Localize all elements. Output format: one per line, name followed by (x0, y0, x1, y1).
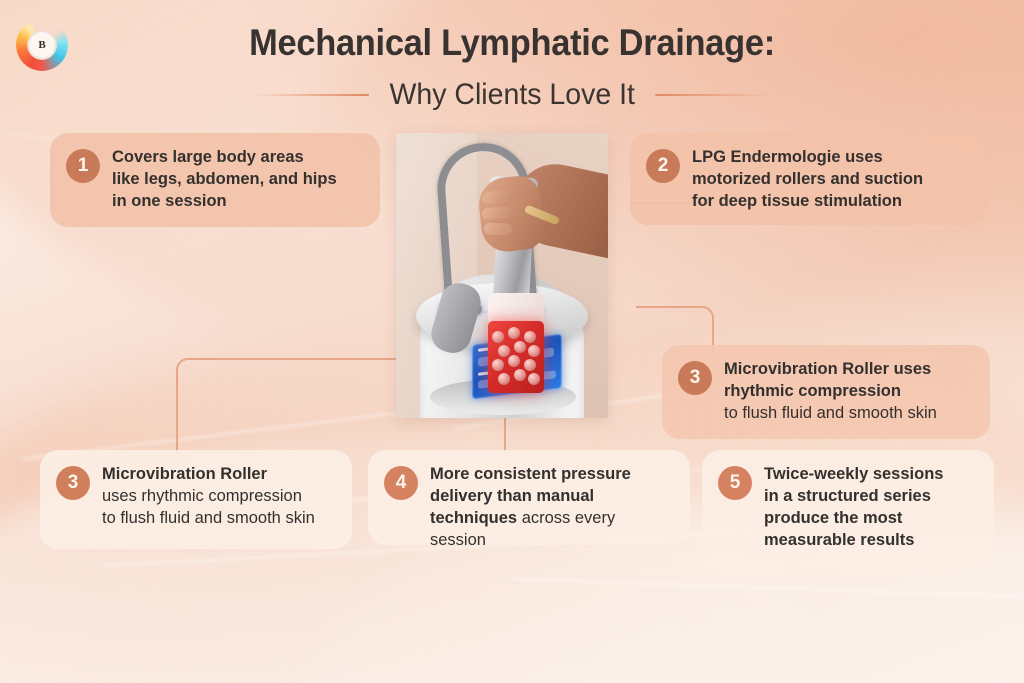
subtitle-rule-left (253, 94, 369, 96)
card-text: Microvibration Roller uses rhythmic comp… (724, 359, 937, 425)
fact-card-2[interactable]: 2 LPG Endermologie uses motorized roller… (630, 133, 987, 225)
card-text: LPG Endermologie uses motorized rollers … (692, 147, 923, 213)
card-line: More consistent pressure (430, 464, 672, 486)
device-photo (396, 133, 608, 418)
card-line: Covers large body areas (112, 147, 337, 169)
card-line: in one session (112, 191, 337, 213)
card-number-badge: 1 (66, 149, 100, 183)
fact-card-5[interactable]: 5 Twice-weekly sessions in a structured … (702, 450, 994, 575)
card-text: More consistent pressure delivery than m… (430, 464, 672, 552)
card-line: like legs, abdomen, and hips (112, 169, 337, 191)
card-text: Twice-weekly sessions in a structured se… (764, 464, 943, 552)
card-line: Microvibration Roller (102, 464, 315, 486)
card-line: Microvibration Roller uses (724, 359, 937, 381)
card-number-badge: 3 (678, 361, 712, 395)
card-line: to flush fluid and smooth skin (102, 508, 315, 530)
subtitle-rule-right (655, 94, 771, 96)
subtitle-row: Why Clients Love It (0, 78, 1024, 112)
card-line: techniques across every session (430, 508, 672, 552)
card-line: Twice-weekly sessions (764, 464, 943, 486)
card-line: uses rhythmic compression (102, 486, 315, 508)
card-line: motorized rollers and suction (692, 169, 923, 191)
page-title: Mechanical Lymphatic Drainage: (36, 22, 988, 64)
connector-line-center (504, 416, 506, 452)
card-number-badge: 2 (646, 149, 680, 183)
card-text: Microvibration Roller uses rhythmic comp… (102, 464, 315, 530)
fact-card-1[interactable]: 1 Covers large body areas like legs, abd… (50, 133, 380, 227)
card-line: LPG Endermologie uses (692, 147, 923, 169)
fact-card-3-bottom[interactable]: 3 Microvibration Roller uses rhythmic co… (40, 450, 352, 549)
card-line-bold-part: techniques (430, 509, 517, 527)
card-number-badge: 5 (718, 466, 752, 500)
connector-line-left (176, 358, 408, 454)
infographic-canvas: B Mechanical Lymphatic Drainage: Why Cli… (0, 0, 1024, 683)
page-subtitle: Why Clients Love It (389, 78, 635, 112)
fact-card-3-right[interactable]: 3 Microvibration Roller uses rhythmic co… (662, 345, 990, 439)
finger-2 (482, 206, 513, 220)
card-number-badge: 3 (56, 466, 90, 500)
card-line: rhythmic compression (724, 381, 937, 403)
card-line: in a structured series (764, 486, 943, 508)
fact-card-4[interactable]: 4 More consistent pressure delivery than… (368, 450, 690, 545)
card-line: produce the most (764, 508, 943, 530)
card-line: to flush fluid and smooth skin (724, 403, 937, 425)
card-text: Covers large body areas like legs, abdom… (112, 147, 337, 213)
card-line: for deep tissue stimulation (692, 191, 923, 213)
card-number-badge: 4 (384, 466, 418, 500)
card-line: measurable results (764, 530, 943, 552)
roller-head-illuminated (488, 321, 544, 393)
background-streak-5 (512, 578, 1024, 599)
finger-3 (484, 223, 512, 236)
card-line: delivery than manual (430, 486, 672, 508)
